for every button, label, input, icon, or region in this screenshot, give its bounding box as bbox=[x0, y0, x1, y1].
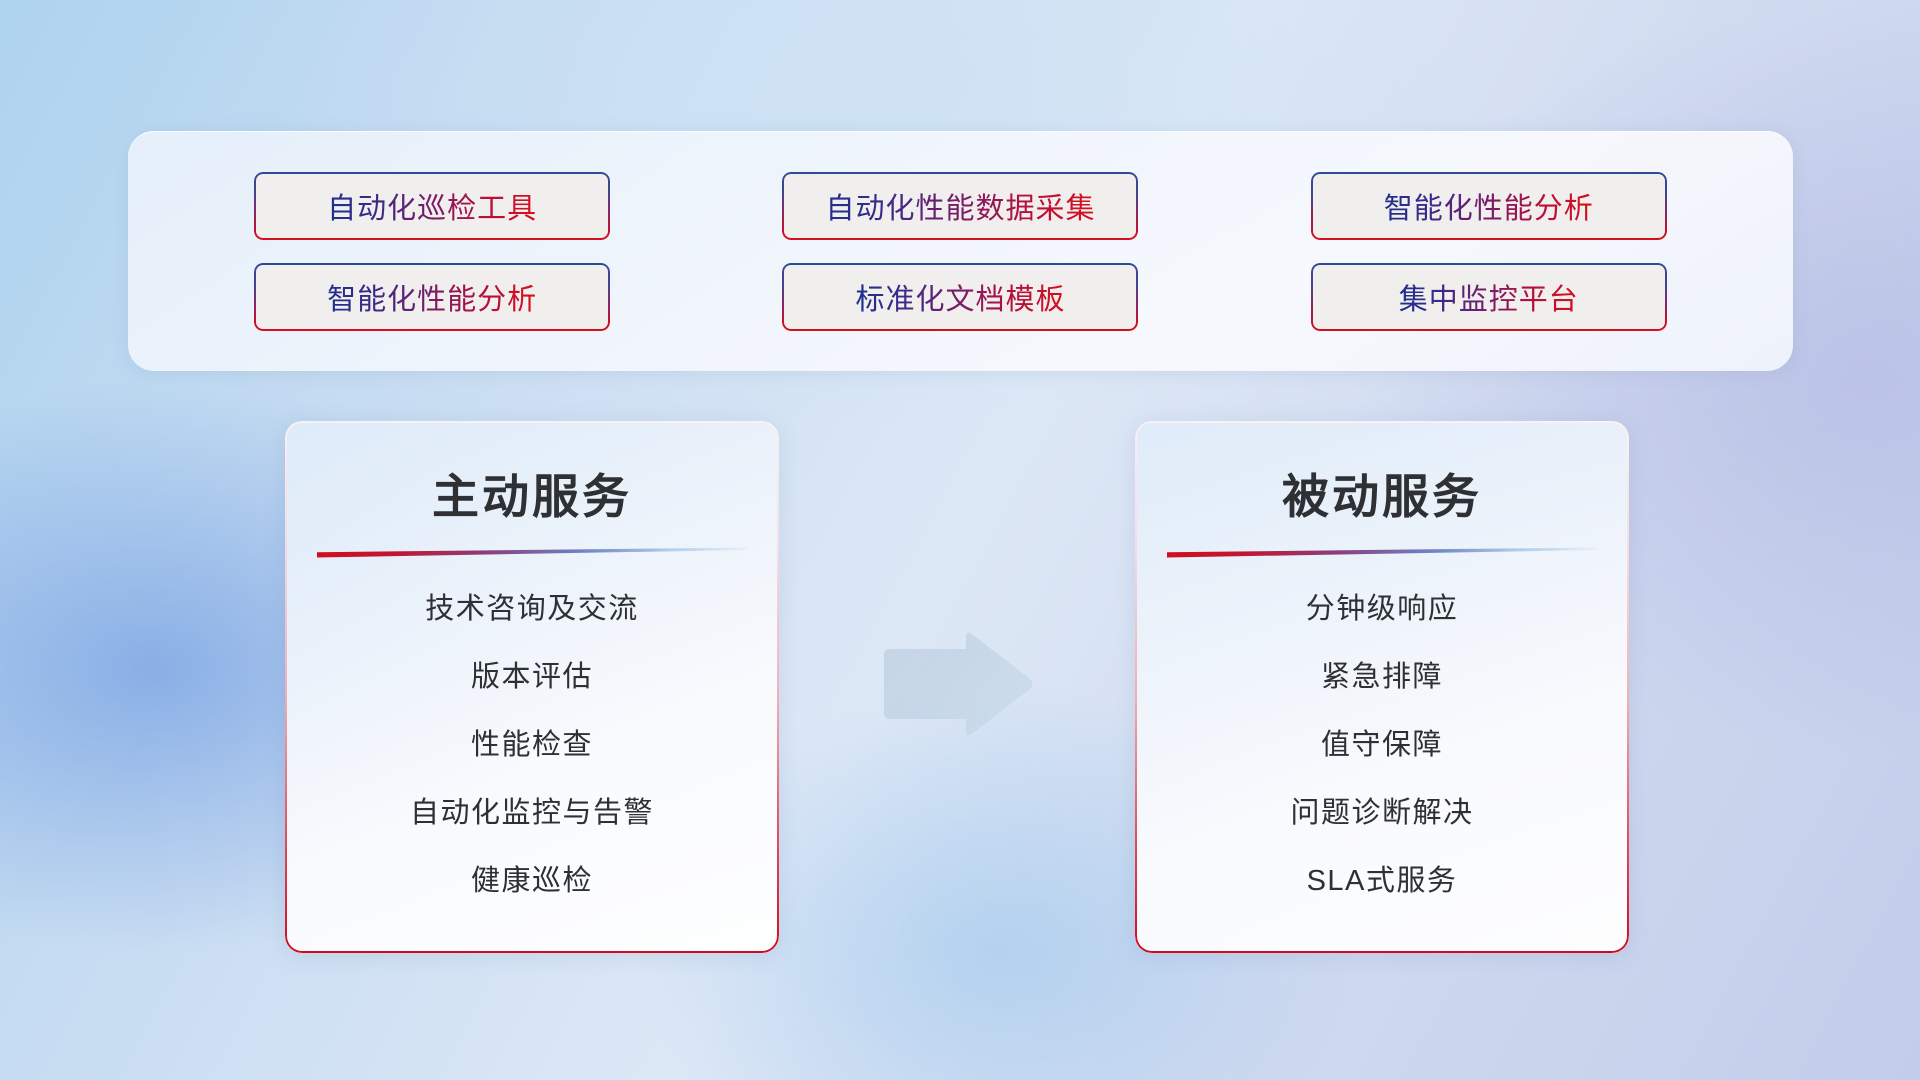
capability-pill[interactable]: 集中监控平台 bbox=[1311, 263, 1667, 331]
service-card-title: 主动服务 bbox=[285, 458, 779, 527]
capability-pill-label: 智能化性能分析 bbox=[327, 276, 537, 318]
service-card-proactive: 主动服务 技术咨询及交流 版本评估 性能检查 自动化监控与告警 健康巡检 bbox=[285, 421, 779, 953]
capability-pill-label: 标准化文档模板 bbox=[855, 276, 1065, 318]
right-arrow-icon bbox=[880, 628, 1035, 740]
capability-pill[interactable]: 自动化巡检工具 bbox=[254, 172, 610, 240]
list-item: 分钟级响应 bbox=[1306, 595, 1459, 624]
divider-wedge-icon bbox=[1167, 547, 1597, 559]
list-item: 值守保障 bbox=[1321, 731, 1443, 760]
capability-pill-label: 自动化巡检工具 bbox=[327, 185, 537, 227]
capability-pill[interactable]: 自动化性能数据采集 bbox=[782, 172, 1138, 240]
list-item: 紧急排障 bbox=[1321, 663, 1443, 692]
list-item: 自动化监控与告警 bbox=[410, 799, 654, 828]
list-item: 技术咨询及交流 bbox=[425, 595, 639, 624]
capability-pill[interactable]: 智能化性能分析 bbox=[254, 263, 610, 331]
card-divider bbox=[1167, 547, 1597, 559]
capabilities-panel: 自动化巡检工具 自动化性能数据采集 智能化性能分析 智能化性能分析 标准化文档模… bbox=[128, 131, 1793, 371]
list-item: 问题诊断解决 bbox=[1290, 799, 1473, 828]
service-list: 分钟级响应 紧急排障 值守保障 问题诊断解决 SLA式服务 bbox=[1135, 595, 1629, 896]
service-card-title: 被动服务 bbox=[1135, 458, 1629, 527]
capabilities-row-1: 自动化巡检工具 自动化性能数据采集 智能化性能分析 bbox=[128, 172, 1793, 240]
service-list: 技术咨询及交流 版本评估 性能检查 自动化监控与告警 健康巡检 bbox=[285, 595, 779, 896]
list-item: SLA式服务 bbox=[1307, 867, 1458, 896]
capability-pill[interactable]: 标准化文档模板 bbox=[782, 263, 1138, 331]
list-item: 健康巡检 bbox=[471, 867, 593, 896]
capability-pill[interactable]: 智能化性能分析 bbox=[1311, 172, 1667, 240]
flow-arrow bbox=[880, 628, 1035, 740]
capability-pill-label: 自动化性能数据采集 bbox=[825, 185, 1095, 227]
capabilities-row-2: 智能化性能分析 标准化文档模板 集中监控平台 bbox=[128, 263, 1793, 331]
list-item: 性能检查 bbox=[471, 731, 593, 760]
divider-wedge-icon bbox=[317, 547, 747, 559]
list-item: 版本评估 bbox=[471, 663, 593, 692]
capability-pill-label: 集中监控平台 bbox=[1399, 276, 1579, 318]
service-card-reactive: 被动服务 分钟级响应 紧急排障 值守保障 问题诊断解决 SLA式服务 bbox=[1135, 421, 1629, 953]
capability-pill-label: 智能化性能分析 bbox=[1384, 185, 1594, 227]
card-divider bbox=[317, 547, 747, 559]
